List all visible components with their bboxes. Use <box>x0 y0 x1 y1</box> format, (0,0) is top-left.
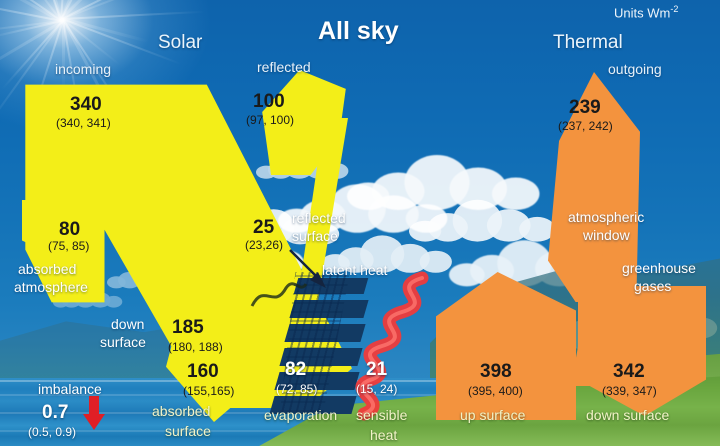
value-down-surface-thermal: 342 <box>613 362 645 382</box>
value-imbalance: 0.7 <box>42 403 68 423</box>
units-exponent: -2 <box>670 4 678 14</box>
range-outgoing-thermal: (237, 242) <box>558 120 613 133</box>
label-down-surface-2: surface <box>100 335 146 350</box>
imbalance-arrow-icon <box>82 396 106 432</box>
energy-budget-diagram: All sky Units Wm-2 Solar Thermal incomin… <box>0 0 720 446</box>
value-reflected-solar: 100 <box>253 92 285 112</box>
label-down-surface-1: down <box>111 317 144 332</box>
range-up-surface: (395, 400) <box>468 385 523 398</box>
value-reflected-surface: 25 <box>253 218 274 238</box>
value-up-surface: 398 <box>480 362 512 382</box>
range-down-surface-thermal: (339, 347) <box>602 385 657 398</box>
page-title: All sky <box>318 18 399 44</box>
range-absorbed-atmosphere: (75, 85) <box>48 240 89 253</box>
range-down-surface-solar: (180, 188) <box>168 341 223 354</box>
label-imbalance: imbalance <box>38 382 102 397</box>
label-reflected-surface-1: reflected <box>292 211 346 226</box>
label-up-surface: up surface <box>460 408 525 423</box>
label-evaporation: evaporation <box>264 408 337 423</box>
label-absorbed-atmosphere-1: absorbed <box>18 262 76 277</box>
range-reflected-surface: (23,26) <box>245 239 283 252</box>
label-sensible-heat-2: heat <box>370 428 397 443</box>
label-outgoing: outgoing <box>608 62 662 77</box>
range-absorbed-surface: (155,165) <box>183 385 234 398</box>
label-sensible-heat-1: sensible <box>356 408 407 423</box>
section-header-thermal: Thermal <box>553 33 623 53</box>
label-down-surface-thermal: down surface <box>586 408 669 423</box>
value-absorbed-atmosphere: 80 <box>59 220 80 240</box>
label-atmospheric-window-1: atmospheric <box>568 210 644 225</box>
range-sensible-heat: (15, 24) <box>356 383 397 396</box>
label-reflected-surface-2: surface <box>292 229 338 244</box>
label-absorbed-atmosphere-2: atmosphere <box>14 280 88 295</box>
label-atmospheric-window-2: window <box>583 228 630 243</box>
label-greenhouse-gases-2: gases <box>634 279 671 294</box>
value-absorbed-surface: 160 <box>187 362 219 382</box>
range-incoming-solar: (340, 341) <box>56 117 111 130</box>
range-reflected-solar: (97, 100) <box>246 114 294 127</box>
units-label: Units Wm-2 <box>614 5 678 20</box>
label-latent-heat: latent heat <box>322 263 387 278</box>
value-incoming-solar: 340 <box>70 95 102 115</box>
value-down-surface-solar: 185 <box>172 318 204 338</box>
label-reflected: reflected <box>257 60 311 75</box>
label-incoming: incoming <box>55 62 111 77</box>
range-imbalance: (0.5, 0.9) <box>28 426 76 439</box>
flow-sensible-heat-coil <box>348 272 438 422</box>
value-outgoing-thermal: 239 <box>569 98 601 118</box>
value-sensible-heat: 21 <box>366 360 387 380</box>
range-evaporation: (72, 85) <box>276 383 317 396</box>
label-absorbed-surface-1: absorbed <box>152 404 210 419</box>
section-header-solar: Solar <box>158 33 202 53</box>
label-greenhouse-gases-1: greenhouse <box>622 261 696 276</box>
label-absorbed-surface-2: surface <box>165 424 211 439</box>
squiggle-mark-icon <box>248 276 308 316</box>
value-evaporation: 82 <box>285 360 306 380</box>
